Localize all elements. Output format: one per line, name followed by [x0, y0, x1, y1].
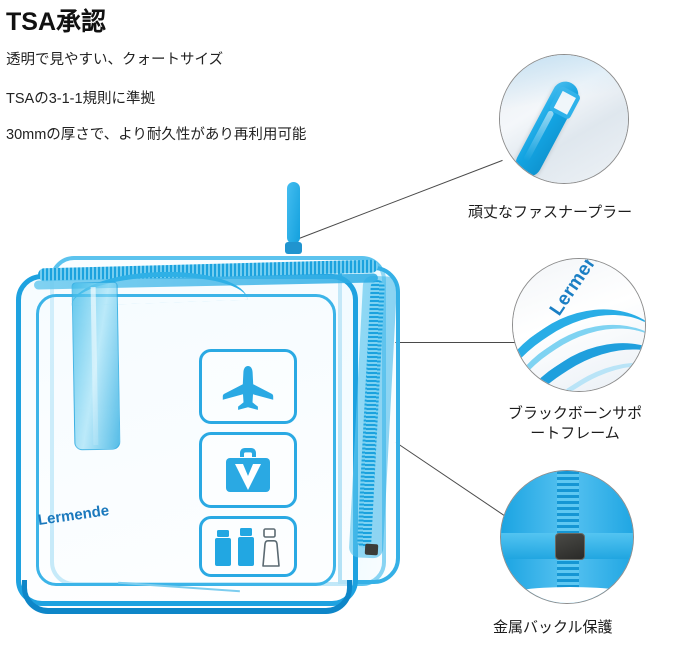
page-title: TSA承認 [6, 2, 106, 38]
callout-label-support-frame-line1: ブラックボーンサポ [508, 405, 642, 422]
zipper-slider-icon [285, 242, 302, 254]
toiletry-bottles-icon [202, 519, 294, 574]
zipper-pull-tab-icon [511, 77, 583, 181]
callout-label-support-frame: ブラックボーンサポ ートフレーム [482, 404, 668, 444]
briefcase-check-icon-box [199, 432, 297, 508]
side-metal-buckle-icon [365, 544, 379, 556]
leader-line-zipper-pull [299, 160, 503, 239]
feature-bullet-2: TSAの3-1-1規則に準拠 [6, 87, 155, 108]
zipper-pull-tab [287, 182, 300, 244]
bag-handle-strap [72, 282, 121, 451]
support-frame-photo: Lermende [513, 259, 645, 391]
feature-bullet-3: 30mmの厚さで、より耐久性があり再利用可能 [6, 123, 306, 144]
callout-label-metal-buckle: 金属バックル保護 [493, 618, 613, 638]
bag-bottom-trim [22, 580, 352, 614]
feature-bullet-1: 透明で見やすい、クォートサイズ [6, 48, 223, 69]
infographic-canvas: TSA承認 透明で見やすい、クォートサイズ TSAの3-1-1規則に準拠 30m… [0, 0, 679, 652]
metal-buckle-icon [555, 533, 585, 560]
detail-circle-metal-buckle [500, 470, 634, 604]
feature-icon-panel [199, 349, 299, 577]
airplane-icon [202, 352, 294, 421]
detail-circle-support-frame: Lermende [512, 258, 646, 392]
metal-buckle-photo [501, 471, 633, 603]
zipper-pull-photo [500, 55, 628, 183]
toiletry-bottles-icon-box [199, 516, 297, 577]
airplane-icon-box [199, 349, 297, 424]
circle-bottom-fade [501, 587, 634, 604]
detail-circle-zipper-pull [499, 54, 629, 184]
callout-label-support-frame-line2: ートフレーム [530, 425, 620, 442]
callout-label-zipper-pull: 頑丈なファスナープラー [468, 203, 632, 223]
briefcase-check-icon [202, 435, 294, 505]
product-bag: Lermende [8, 250, 426, 632]
